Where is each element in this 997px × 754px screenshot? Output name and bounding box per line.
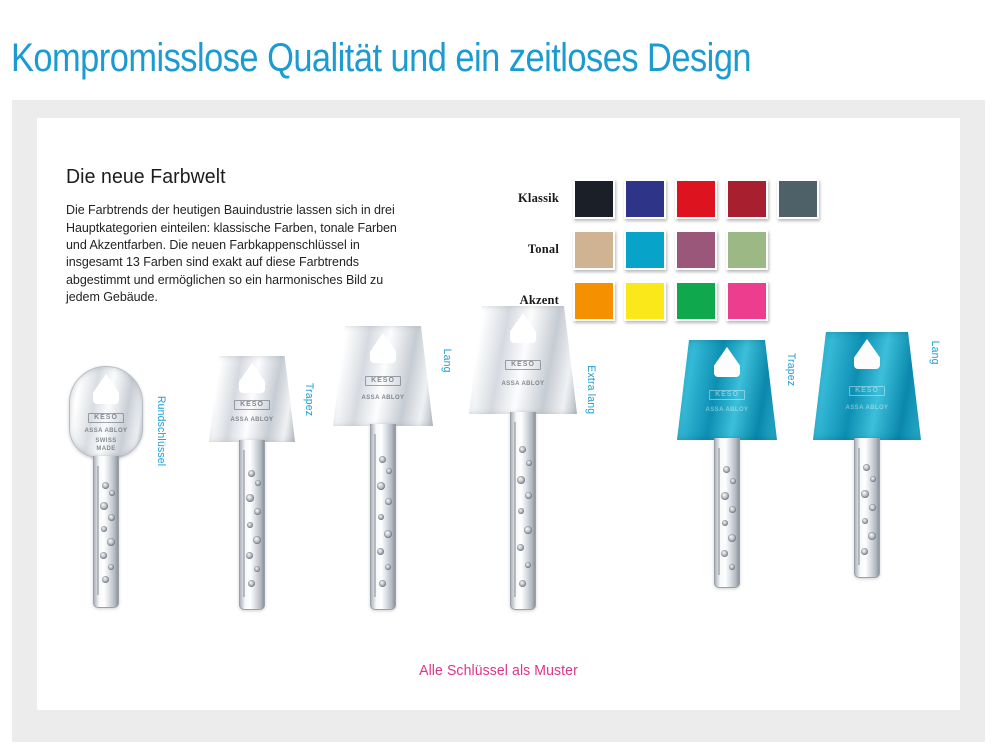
key-hole-icon [854, 339, 880, 369]
key-blade [714, 438, 740, 588]
key-item-extra-lang-silver[interactable]: KESO ASSA ABLOY [469, 306, 577, 610]
key-bow-trapez-wide: KESO ASSA ABLOY [333, 326, 433, 426]
key-blade [854, 438, 880, 578]
key-graphic-trapez-colored: KESO ASSA ABLOY [677, 340, 777, 588]
key-engraving-subbrand: ASSA ABLOY [469, 380, 577, 388]
key-bow-trapez-colored: KESO ASSA ABLOY [677, 340, 777, 440]
key-engraving-brand: KESO [677, 390, 777, 400]
key-hole-icon [510, 313, 536, 343]
color-swatch-matrix: Klassik Tonal [505, 173, 828, 326]
key-engraving-subbrand: ASSA ABLOY [209, 416, 295, 424]
swatch-akzent-3[interactable] [675, 281, 717, 321]
key-caption-rundschluessel: Rundschlüssel [155, 396, 167, 466]
key-hole-icon [93, 374, 119, 404]
key-hole-icon [239, 363, 265, 393]
section-body-text: Die Farbtrends der heutigen Bauindustrie… [66, 201, 419, 305]
muster-caption: Alle Schlüssel als Muster [51, 663, 946, 679]
swatch-tonal-2[interactable] [624, 230, 666, 270]
key-engraving-subbrand: ASSA ABLOY [333, 394, 433, 402]
key-caption-extra-lang: Extra lang [585, 365, 597, 414]
swatch-track-akzent [573, 281, 777, 321]
swatch-klassik-1[interactable] [573, 179, 615, 219]
key-item-lang-silver[interactable]: KESO ASSA ABLOY [333, 326, 433, 610]
key-engraving-brand: KESO [333, 376, 433, 386]
key-engraving-brand: KESO [813, 386, 921, 396]
key-caption-lang: Lang [441, 349, 453, 373]
page-root: Kompromisslose Qualität und ein zeitlose… [0, 0, 997, 754]
key-blade [93, 456, 119, 608]
swatch-tonal-3[interactable] [675, 230, 717, 270]
key-graphic-round: KESO ASSA ABLOY SWISS MADE [69, 366, 143, 608]
key-engraving-brand: KESO [70, 413, 142, 423]
swatch-row-label-tonal: Tonal [505, 242, 573, 257]
key-bow-round: KESO ASSA ABLOY SWISS MADE [69, 366, 143, 458]
content-card: Die neue Farbwelt Die Farbtrends der heu… [37, 118, 960, 710]
key-engraving-subbrand: ASSA ABLOY [70, 427, 142, 435]
key-caption-trapez-colored: Trapez [785, 353, 797, 386]
swatch-akzent-2[interactable] [624, 281, 666, 321]
key-graphic-lang: KESO ASSA ABLOY [333, 326, 433, 610]
key-item-lang-colored[interactable]: KESO ASSA ABLOY [813, 332, 921, 578]
swatch-klassik-4[interactable] [726, 179, 768, 219]
key-blade [370, 424, 396, 610]
key-blade [239, 440, 265, 610]
swatch-row-label-klassik: Klassik [505, 191, 573, 206]
key-graphic-trapez: KESO ASSA ABLOY [209, 356, 295, 610]
swatch-track-klassik [573, 179, 828, 219]
key-hole-icon [714, 347, 740, 377]
key-caption-lang-colored: Lang [929, 341, 941, 365]
key-engraving-brand: KESO [209, 400, 295, 410]
key-item-trapez-colored[interactable]: KESO ASSA ABLOY [677, 340, 777, 588]
swatch-klassik-2[interactable] [624, 179, 666, 219]
key-caption-trapez: Trapez [303, 383, 315, 416]
swatch-klassik-5[interactable] [777, 179, 819, 219]
swatch-row-tonal: Tonal [505, 224, 828, 275]
swatch-klassik-3[interactable] [675, 179, 717, 219]
key-graphic-lang-colored: KESO ASSA ABLOY [813, 332, 921, 578]
key-engraving-brand: KESO [469, 360, 577, 370]
key-bow-trapez-xwide: KESO ASSA ABLOY [469, 306, 577, 414]
key-engraving-mark-1: SWISS [70, 437, 142, 445]
key-item-rundschluessel[interactable]: KESO ASSA ABLOY SWISS MADE [69, 366, 143, 608]
key-hole-icon [370, 333, 396, 363]
swatch-tonal-4[interactable] [726, 230, 768, 270]
section-heading: Die neue Farbwelt [66, 165, 226, 189]
swatch-akzent-4[interactable] [726, 281, 768, 321]
key-item-trapez-silver[interactable]: KESO ASSA ABLOY [209, 356, 295, 610]
key-bow-trapez: KESO ASSA ABLOY [209, 356, 295, 442]
key-engraving-subbrand: ASSA ABLOY [813, 404, 921, 412]
page-title: Kompromisslose Qualität und ein zeitlose… [11, 33, 837, 83]
keys-showcase: KESO ASSA ABLOY SWISS MADE [37, 328, 960, 648]
key-graphic-extra-lang: KESO ASSA ABLOY [469, 306, 577, 610]
swatch-tonal-1[interactable] [573, 230, 615, 270]
key-engraving-subbrand: ASSA ABLOY [677, 406, 777, 414]
key-engraving-mark-2: MADE [70, 445, 142, 453]
swatch-track-tonal [573, 230, 777, 270]
key-blade [510, 412, 536, 610]
swatch-row-klassik: Klassik [505, 173, 828, 224]
outer-frame: Die neue Farbwelt Die Farbtrends der heu… [12, 100, 985, 742]
swatch-akzent-1[interactable] [573, 281, 615, 321]
key-bow-trapez-xwide-colored: KESO ASSA ABLOY [813, 332, 921, 440]
